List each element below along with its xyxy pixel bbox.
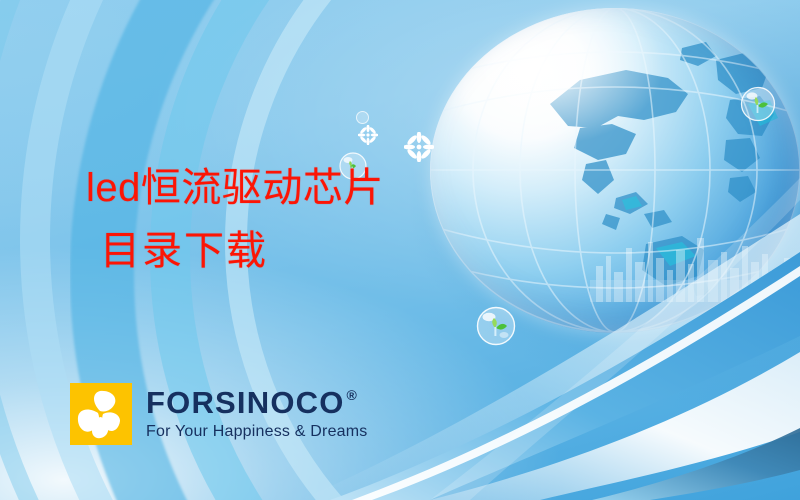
page-title: led恒流驱动芯片 目录下载: [86, 166, 384, 274]
headline-line-1: led恒流驱动芯片: [86, 166, 384, 211]
banner-canvas: led恒流驱动芯片 目录下载 FORSINOCO ® For Your Happ…: [0, 0, 800, 500]
logo-name-text: FORSINOCO: [146, 387, 345, 418]
logo-company-name: FORSINOCO ®: [146, 387, 368, 418]
headline-line-1-latin: led: [86, 166, 141, 210]
pinwheel-flower-icon: [70, 383, 132, 445]
headline-line-2: 目录下载: [100, 229, 384, 274]
logo-wordmark: FORSINOCO ® For Your Happiness & Dreams: [146, 387, 368, 441]
headline-line-1-cjk: 恒流驱动芯片: [141, 165, 384, 210]
logo-tagline: For Your Happiness & Dreams: [146, 423, 368, 441]
registered-trademark-icon: ®: [347, 388, 359, 402]
company-logo[interactable]: FORSINOCO ® For Your Happiness & Dreams: [70, 383, 368, 445]
